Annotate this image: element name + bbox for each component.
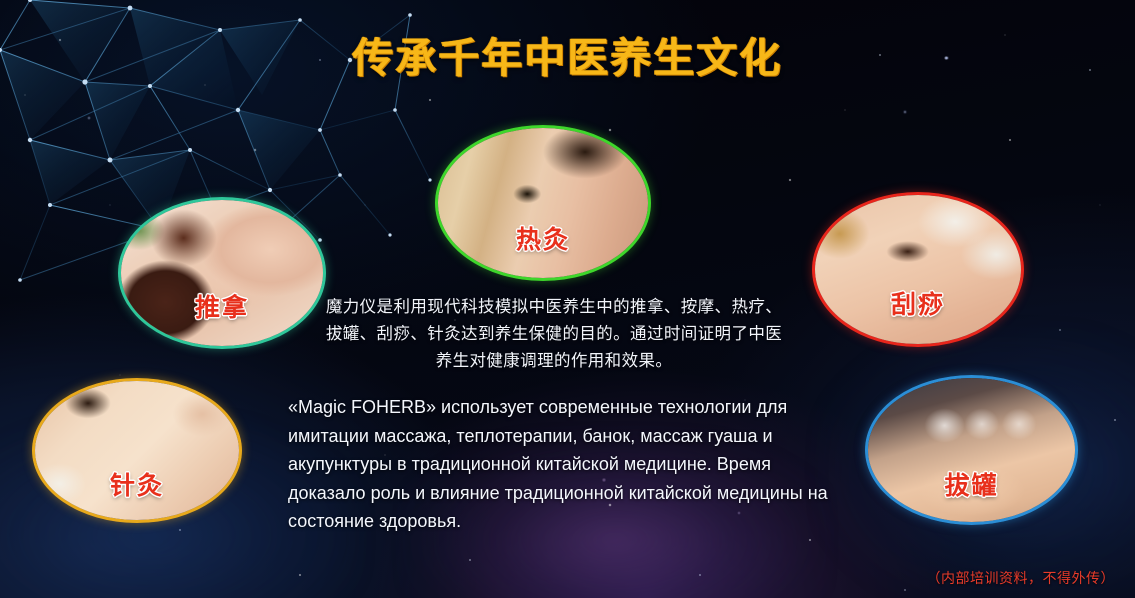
therapy-label-rejiu: 热灸: [438, 220, 648, 256]
therapy-label-baguan: 拔罐: [868, 466, 1075, 502]
confidential-note: （内部培训资料，不得外传）: [927, 568, 1116, 588]
therapy-oval-zhenjiu[interactable]: 针灸: [32, 378, 242, 523]
therapy-oval-tuina[interactable]: 推拿: [118, 197, 326, 349]
therapy-photo-guasha: [815, 195, 1021, 344]
therapy-oval-guasha[interactable]: 刮痧: [812, 192, 1024, 347]
therapy-oval-rejiu[interactable]: 热灸: [435, 125, 651, 281]
therapy-label-guasha: 刮痧: [815, 285, 1021, 321]
therapy-label-tuina: 推拿: [121, 288, 323, 324]
therapy-label-zhenjiu: 针灸: [35, 466, 239, 502]
page-title: 传承千年中医养生文化: [0, 24, 1135, 84]
therapy-oval-baguan[interactable]: 拔罐: [865, 375, 1078, 525]
slide-canvas: 传承千年中医养生文化 推拿 热灸 刮痧 针灸 拔罐 魔力仪是利用现代科技模拟中医…: [0, 0, 1135, 598]
therapy-photo-tuina: [121, 200, 323, 346]
russian-description: «Magic FOHERB» использует современные те…: [288, 393, 828, 536]
chinese-description: 魔力仪是利用现代科技模拟中医养生中的推拿、按摩、热疗、拔罐、刮痧、针灸达到养生保…: [318, 294, 790, 375]
